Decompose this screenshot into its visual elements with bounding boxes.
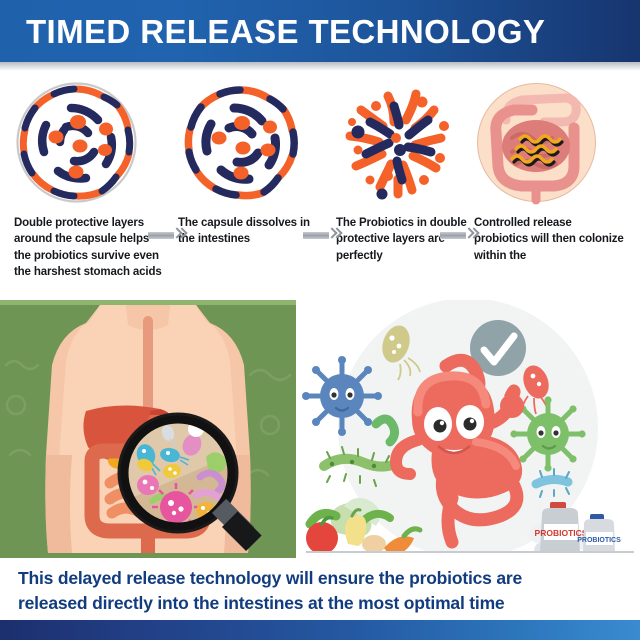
svg-text:PROBIOTICS: PROBIOTICS — [577, 537, 621, 544]
step-1-caption: Double protective layers around the caps… — [8, 215, 164, 280]
illustration-panels: PROBIOTICS PROBIOTICS — [0, 300, 640, 555]
step-1: Double protective layers around the caps… — [8, 80, 160, 280]
step-4-caption: Controlled release probiotics will then … — [468, 215, 624, 264]
infographic-page: TIMED RELEASE TECHNOLOGY — [0, 0, 640, 640]
step-2-caption: The capsule dissolves in the intestines — [172, 215, 318, 248]
chevron-right-icon — [173, 228, 181, 242]
arrow-bar — [303, 232, 329, 239]
footer-line-1: This delayed release technology will ens… — [18, 566, 622, 591]
page-title: TIMED RELEASE TECHNOLOGY — [26, 15, 545, 48]
arrow-bar — [148, 232, 174, 239]
step-2: The capsule dissolves in the intestines — [172, 80, 324, 248]
capsule-dissolving-icon — [178, 80, 303, 205]
arrow-step2-to-step3 — [303, 228, 345, 242]
step-4: Controlled release probiotics will then … — [468, 80, 620, 264]
header-divider — [0, 62, 640, 71]
intestine-colonize-icon — [474, 80, 599, 205]
footer-line-2: released directly into the intestines at… — [18, 591, 622, 616]
happy-stomach-character: PROBIOTICS PROBIOTICS — [300, 300, 640, 553]
footer-message: This delayed release technology will ens… — [0, 560, 640, 620]
arrow-step3-to-step4 — [440, 228, 482, 242]
capsule-double-layer-icon — [14, 80, 139, 205]
footer-bar — [0, 620, 640, 640]
chevron-right-icon — [465, 228, 473, 242]
arrow-bar — [440, 232, 466, 239]
arrow-step1-to-step2 — [148, 228, 190, 242]
human-torso-digestive-system — [0, 300, 296, 558]
probiotics-released-icon — [336, 80, 461, 205]
chevron-right-icon — [328, 228, 336, 242]
process-steps: Double protective layers around the caps… — [0, 80, 640, 295]
header-banner: TIMED RELEASE TECHNOLOGY — [0, 0, 640, 62]
